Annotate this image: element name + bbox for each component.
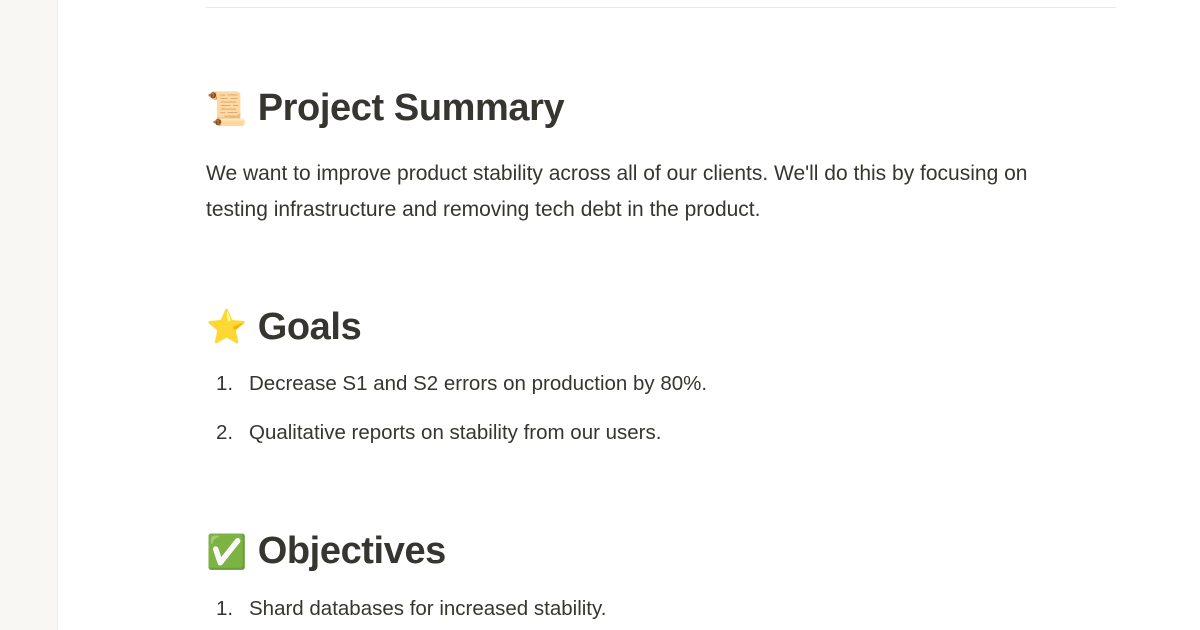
document-page: 📜 Project Summary We want to improve pro… [0,0,1200,630]
document-body: 📜 Project Summary We want to improve pro… [206,0,1116,624]
check-mark-button-icon: ✅ [206,535,247,568]
document-content-pane: 📜 Project Summary We want to improve pro… [58,0,1200,630]
goals-list: 1. Decrease S1 and S2 errors on producti… [206,369,1116,448]
list-item-text: Decrease S1 and S2 errors on production … [249,369,1116,399]
list-item[interactable]: 1. Decrease S1 and S2 errors on producti… [206,369,1116,399]
project-summary-paragraph[interactable]: We want to improve product stability acr… [206,156,1066,228]
heading-text: Project Summary [258,87,565,130]
list-item-text: Shard databases for increased stability. [249,594,1116,624]
scroll-icon: 📜 [206,92,247,125]
list-marker: 2. [216,418,249,448]
list-marker: 1. [216,369,249,399]
star-icon: ⭐ [206,310,247,343]
list-item[interactable]: 1. Shard databases for increased stabili… [206,594,1116,624]
heading-text: Objectives [258,530,446,573]
heading-goals: ⭐ Goals [206,306,1116,349]
sidebar[interactable] [0,0,58,630]
list-item-text: Qualitative reports on stability from ou… [249,418,1116,448]
heading-text: Goals [258,306,362,349]
list-marker: 1. [216,594,249,624]
list-item[interactable]: 2. Qualitative reports on stability from… [206,418,1116,448]
heading-project-summary: 📜 Project Summary [206,87,1116,130]
heading-objectives: ✅ Objectives [206,530,1116,573]
objectives-list: 1. Shard databases for increased stabili… [206,594,1116,624]
top-divider [206,7,1116,8]
